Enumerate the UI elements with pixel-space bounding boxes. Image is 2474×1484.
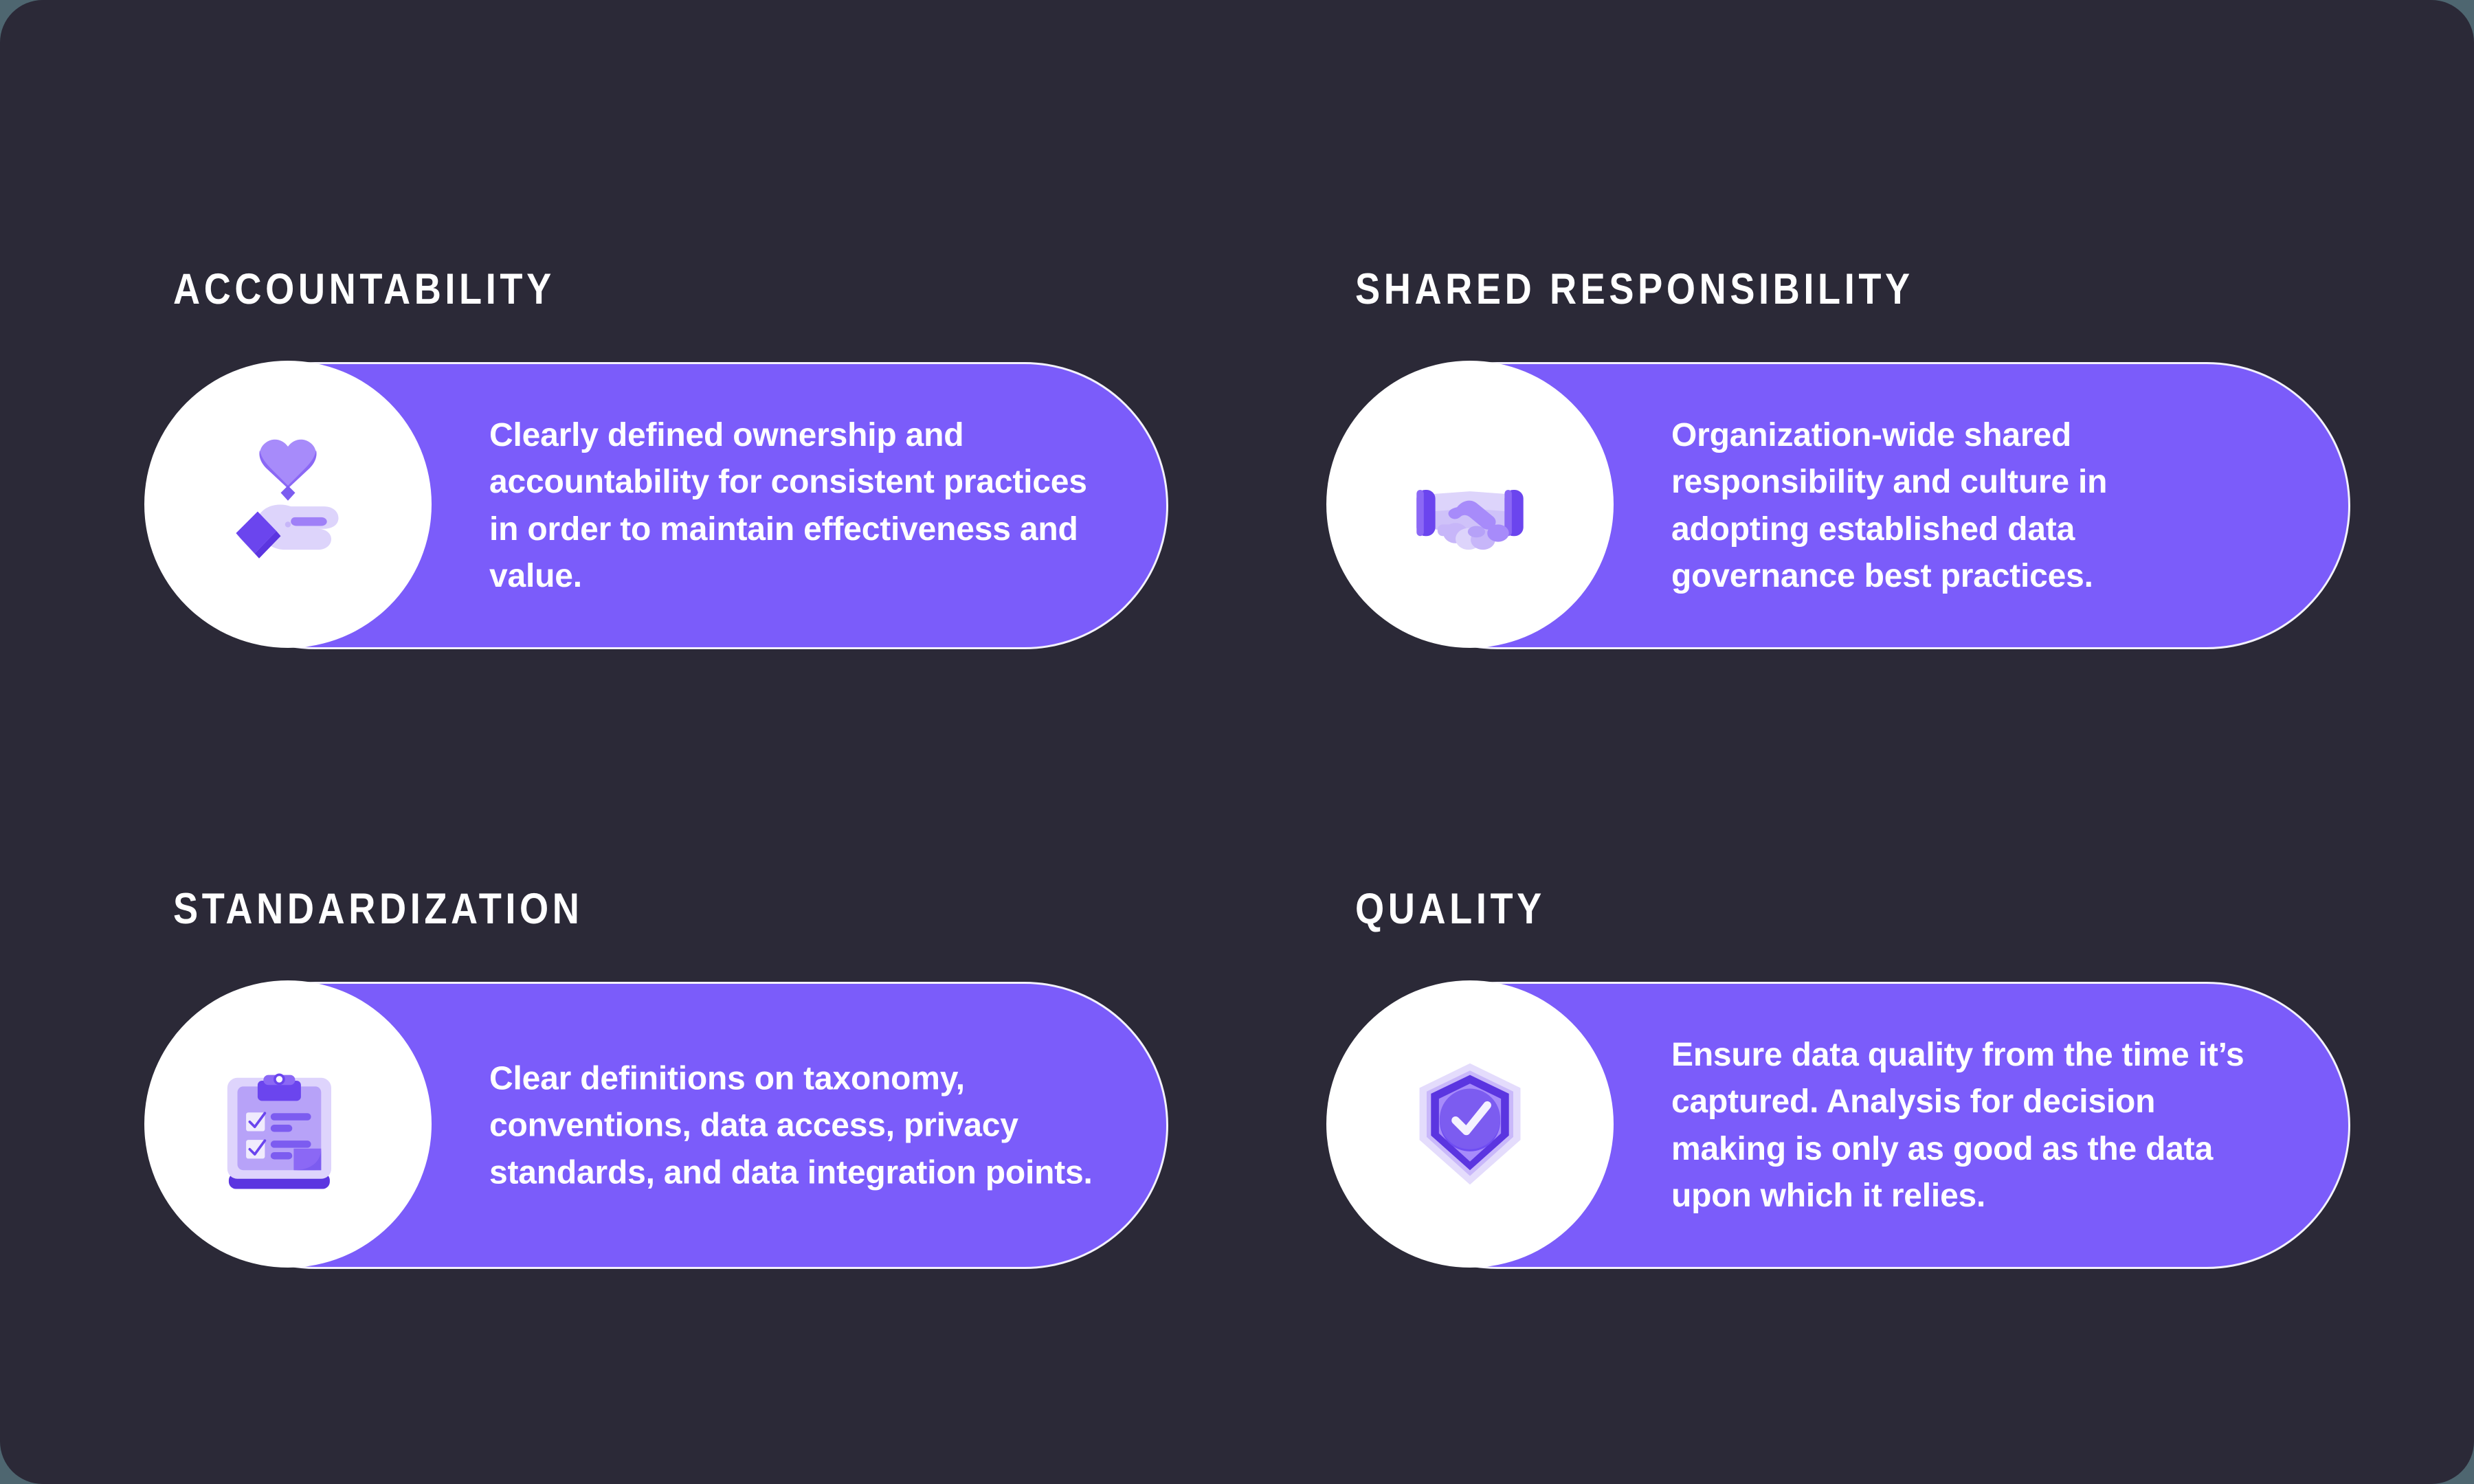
- card-heading-quality: QUALITY: [1355, 888, 2335, 931]
- pill-accountability: Clearly defined ownership and accountabi…: [172, 362, 1313, 651]
- pill-quality: Ensure data quality from the time it’s c…: [1354, 982, 2474, 1270]
- icon-circle-standardization: [144, 980, 432, 1268]
- card-heading-standardization: STANDARDIZATION: [173, 888, 1153, 931]
- card-heading-accountability: ACCOUNTABILITY: [173, 268, 1153, 311]
- heart-in-hand-icon: [216, 432, 360, 576]
- icon-circle-shared-responsibility: [1326, 361, 1614, 648]
- card-body-shared-responsibility: Organization-wide shared responsibility …: [1671, 412, 2214, 600]
- card-accountability: ACCOUNTABILITY Clearly defined ownership…: [172, 268, 1313, 651]
- infographic-page: ACCOUNTABILITY Clearly defined ownership…: [0, 0, 2474, 1484]
- pill-shared-responsibility: Organization-wide shared responsibility …: [1354, 362, 2474, 651]
- card-body-quality: Ensure data quality from the time it’s c…: [1671, 1032, 2276, 1220]
- card-heading-shared-responsibility: SHARED RESPONSIBILITY: [1355, 268, 2335, 311]
- clipboard-checklist-icon: [216, 1052, 360, 1196]
- card-body-standardization: Clear definitions on taxonomy, conventio…: [489, 1055, 1094, 1196]
- principles-grid: ACCOUNTABILITY Clearly defined ownership…: [172, 268, 2302, 1270]
- card-body-accountability: Clearly defined ownership and accountabi…: [489, 412, 1094, 600]
- pill-standardization: Clear definitions on taxonomy, conventio…: [172, 982, 1313, 1270]
- card-standardization: STANDARDIZATION Clear definitions on tax…: [172, 888, 1313, 1270]
- handshake-icon: [1398, 432, 1542, 576]
- shield-check-icon: [1398, 1052, 1542, 1196]
- icon-circle-accountability: [144, 361, 432, 648]
- card-shared-responsibility: SHARED RESPONSIBILITY Organization-wide …: [1354, 268, 2474, 651]
- card-quality: QUALITY Ensure data quality from the tim…: [1354, 888, 2474, 1270]
- icon-circle-quality: [1326, 980, 1614, 1268]
